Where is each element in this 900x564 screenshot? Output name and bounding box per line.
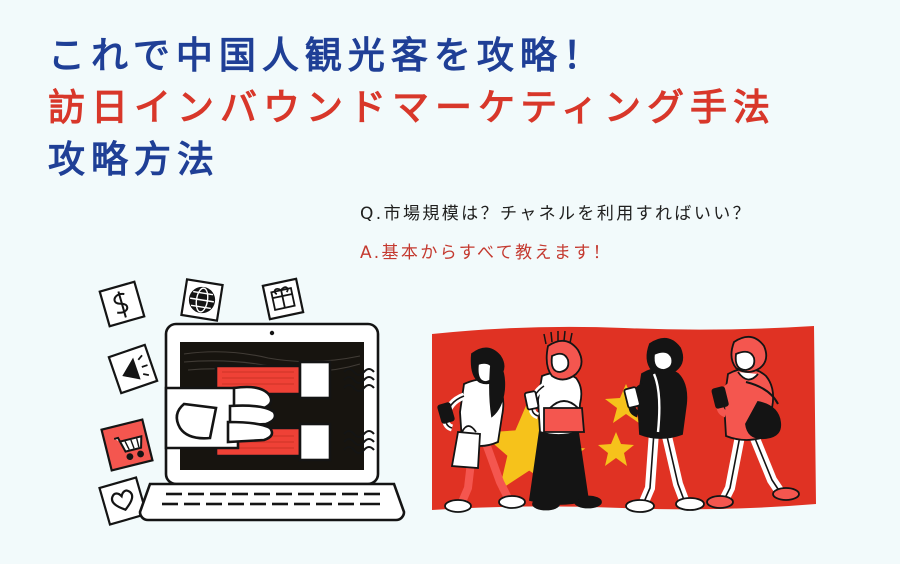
globe-card <box>181 279 222 320</box>
cart-card <box>102 420 153 471</box>
magnet-pole-bottom <box>300 424 330 460</box>
subheading-block: Q.市場規模は？チャネルを利用すればいい？ A.基本からすべて教えます！ <box>360 204 880 264</box>
flag-panel-illustration <box>428 320 818 530</box>
megaphone-card <box>109 345 157 393</box>
page-title: これで中国人観光客を攻略！ 訪日インバウンドマーケティング手法 攻略方法 <box>48 32 868 188</box>
headline-line-2: 訪日インバウンドマーケティング手法 <box>48 84 868 132</box>
laptop-magnet-illustration <box>88 276 428 536</box>
headline-line-3: 攻略方法 <box>48 136 868 184</box>
heart-card <box>99 477 146 524</box>
dollar-card <box>100 282 145 327</box>
phone <box>524 391 538 410</box>
banner-root: これで中国人観光客を攻略！ 訪日インバウンドマーケティング手法 攻略方法 Q.市… <box>0 0 900 564</box>
magnet-pole-top <box>300 362 330 398</box>
subheading-answer: A.基本からすべて教えます！ <box>360 243 880 264</box>
headline-line-1: これで中国人観光客を攻略！ <box>48 32 868 80</box>
laptop-base <box>140 484 404 520</box>
illustration <box>0 270 900 540</box>
subheading-question: Q.市場規模は？チャネルを利用すればいい？ <box>360 204 880 225</box>
gift-card <box>263 279 303 319</box>
